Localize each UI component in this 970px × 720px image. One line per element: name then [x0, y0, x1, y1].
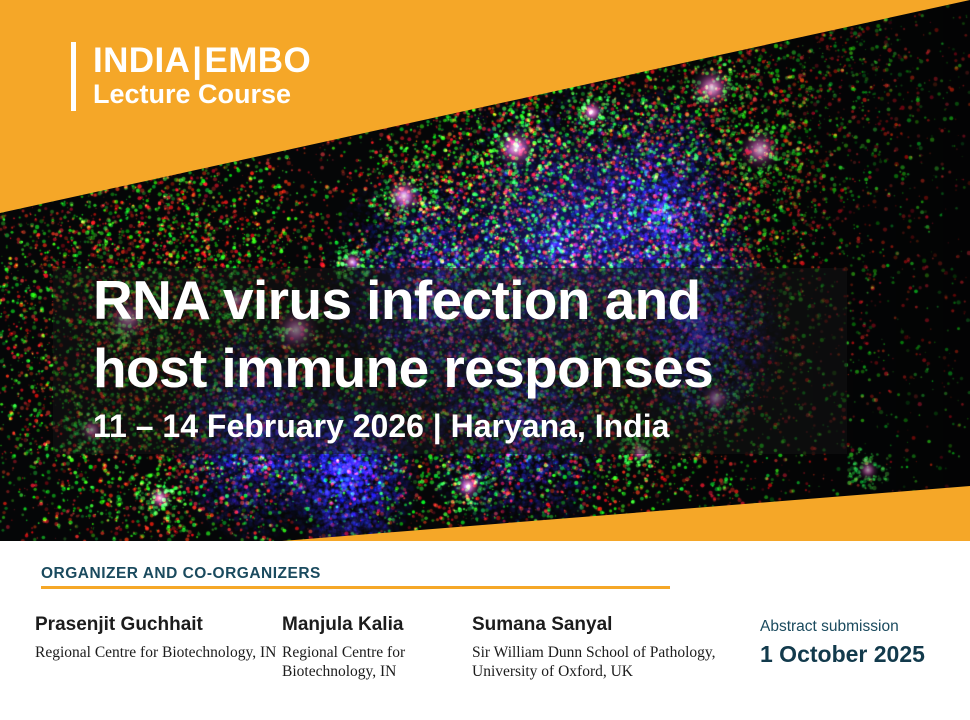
- organizer-item: Manjula Kalia Regional Centre for Biotec…: [282, 612, 472, 681]
- abstract-submission-block: Abstract submission 1 October 2025: [760, 617, 950, 668]
- section-divider-rule: [41, 586, 670, 589]
- organizer-name: Prasenjit Guchhait: [35, 612, 282, 638]
- logo-text-block: INDIA|EMBO Lecture Course: [93, 42, 311, 111]
- organizer-affiliation: Regional Centre for Biotechnology, IN: [35, 643, 282, 662]
- abstract-submission-date: 1 October 2025: [760, 641, 950, 668]
- abstract-submission-label: Abstract submission: [760, 617, 950, 637]
- logo-vertical-rule: [71, 42, 76, 111]
- organizer-name: Manjula Kalia: [282, 612, 472, 638]
- page-title-line-2: host immune responses: [93, 334, 853, 402]
- hero-banner: INDIA|EMBO Lecture Course RNA virus infe…: [0, 0, 970, 541]
- organizers-list: Prasenjit Guchhait Regional Centre for B…: [35, 612, 735, 681]
- india-embo-logo: INDIA|EMBO Lecture Course: [71, 42, 311, 111]
- organizer-affiliation: Sir William Dunn School of Pathology, Un…: [472, 643, 732, 682]
- organizer-item: Sumana Sanyal Sir William Dunn School of…: [472, 612, 732, 681]
- logo-separator: |: [190, 41, 204, 80]
- organizers-section-heading: ORGANIZER AND CO-ORGANIZERS: [41, 565, 321, 583]
- logo-embo-label: EMBO: [204, 41, 311, 80]
- organizer-name: Sumana Sanyal: [472, 612, 732, 638]
- conference-poster: INDIA|EMBO Lecture Course RNA virus infe…: [0, 0, 970, 720]
- title-block: RNA virus infection and host immune resp…: [93, 266, 853, 445]
- logo-secondary-line: Lecture Course: [93, 79, 311, 111]
- organizer-item: Prasenjit Guchhait Regional Centre for B…: [35, 612, 282, 681]
- organizer-affiliation: Regional Centre for Biotechnology, IN: [282, 643, 472, 682]
- event-date-location: 11 – 14 February 2026 | Haryana, India: [93, 408, 853, 445]
- logo-primary-line: INDIA|EMBO: [93, 42, 311, 79]
- logo-india-label: INDIA: [93, 41, 190, 80]
- page-title-line-1: RNA virus infection and: [93, 266, 853, 334]
